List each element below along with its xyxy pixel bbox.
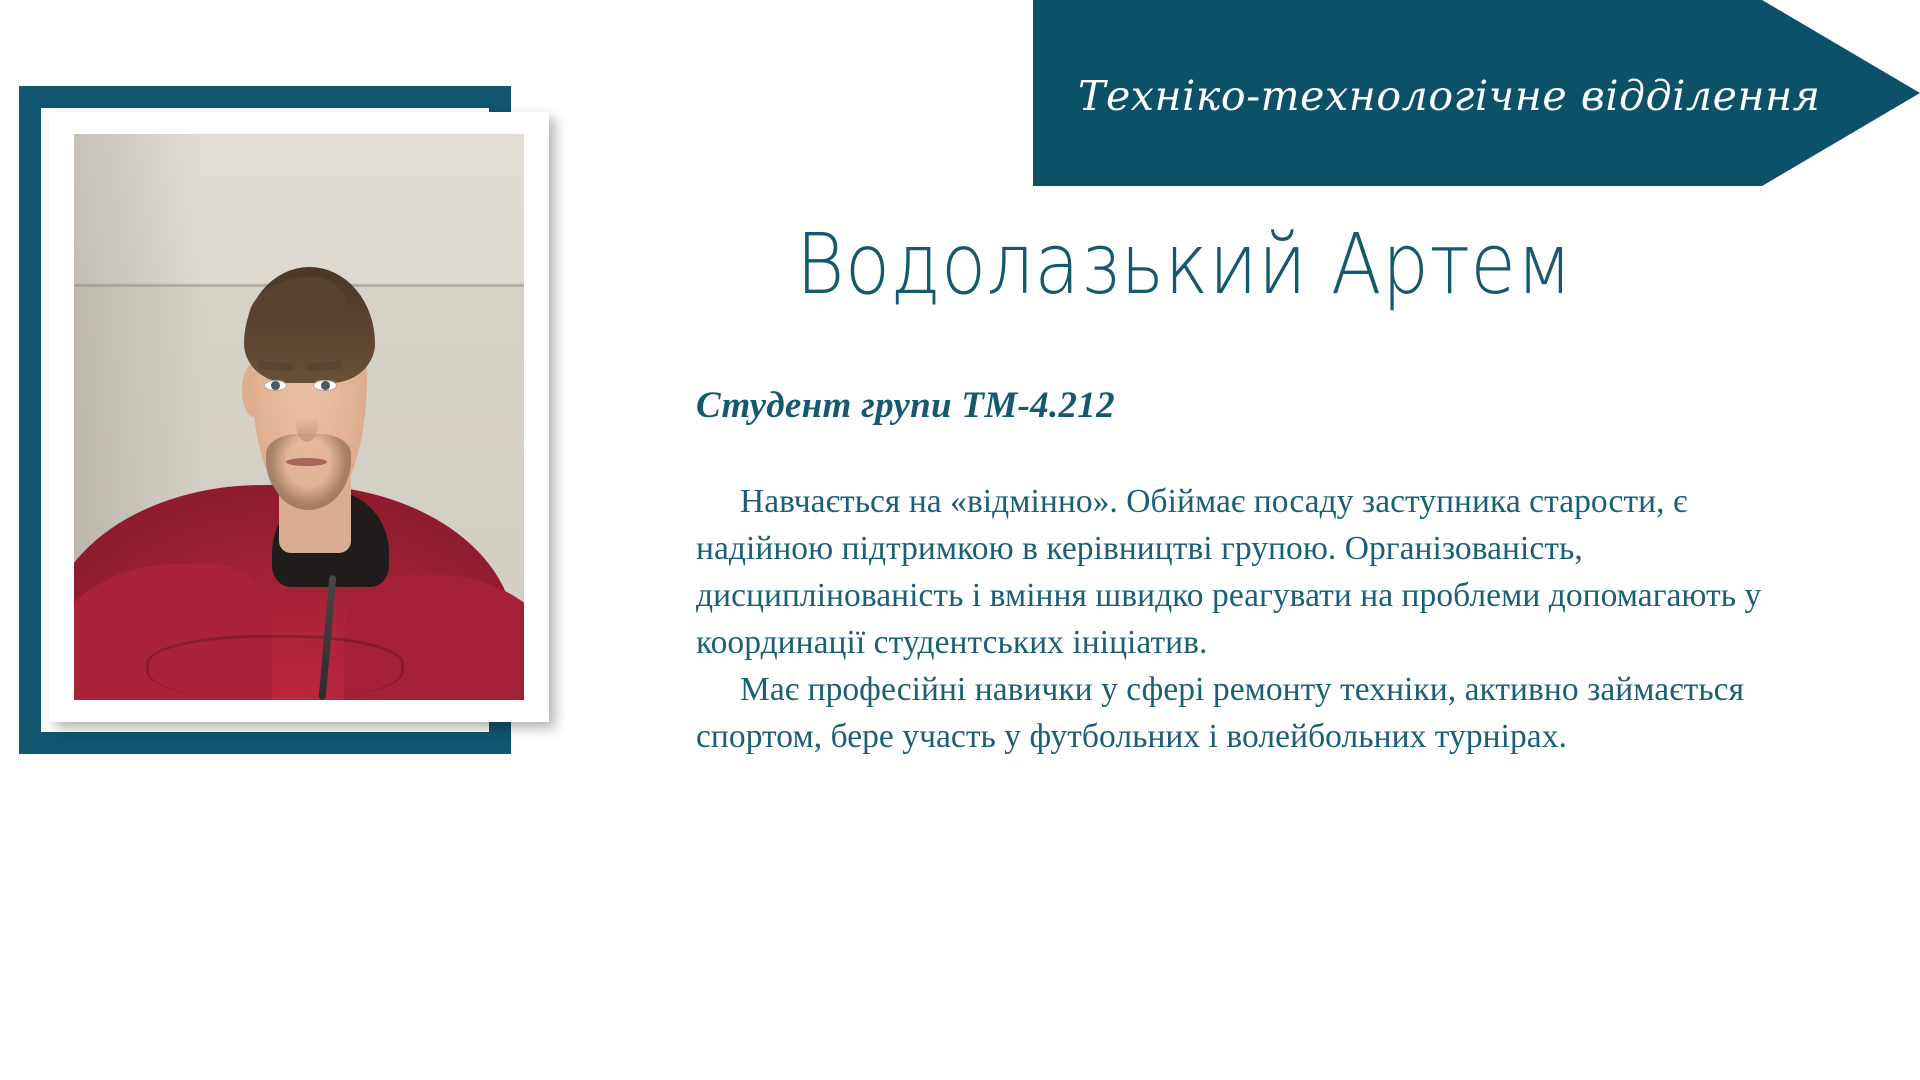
department-banner-label: Техніко-технологічне відділення: [1078, 72, 1820, 120]
student-description: Навчається на «відмінно». Обіймає посаду…: [696, 478, 1786, 760]
student-name-title: Водолазький Артем: [796, 222, 1573, 306]
photo-card: [49, 112, 549, 722]
student-group-subtitle: Студент групи ТМ-4.212: [696, 384, 1115, 427]
photo-pupil-left: [271, 381, 280, 390]
description-paragraph: Навчається на «відмінно». Обіймає посаду…: [696, 478, 1786, 666]
photo-mouth: [286, 458, 327, 466]
department-banner: Техніко-технологічне відділення: [1033, 0, 1920, 186]
photo-block: [0, 0, 580, 800]
photo-hoodie-logo: [146, 635, 404, 700]
photo-pupil-right: [321, 381, 330, 390]
portrait-photo: [74, 134, 524, 700]
description-paragraph: Має професійні навички у сфері ремонту т…: [696, 666, 1786, 760]
slide-canvas: Техніко-технологічне відділення: [0, 0, 1920, 1080]
